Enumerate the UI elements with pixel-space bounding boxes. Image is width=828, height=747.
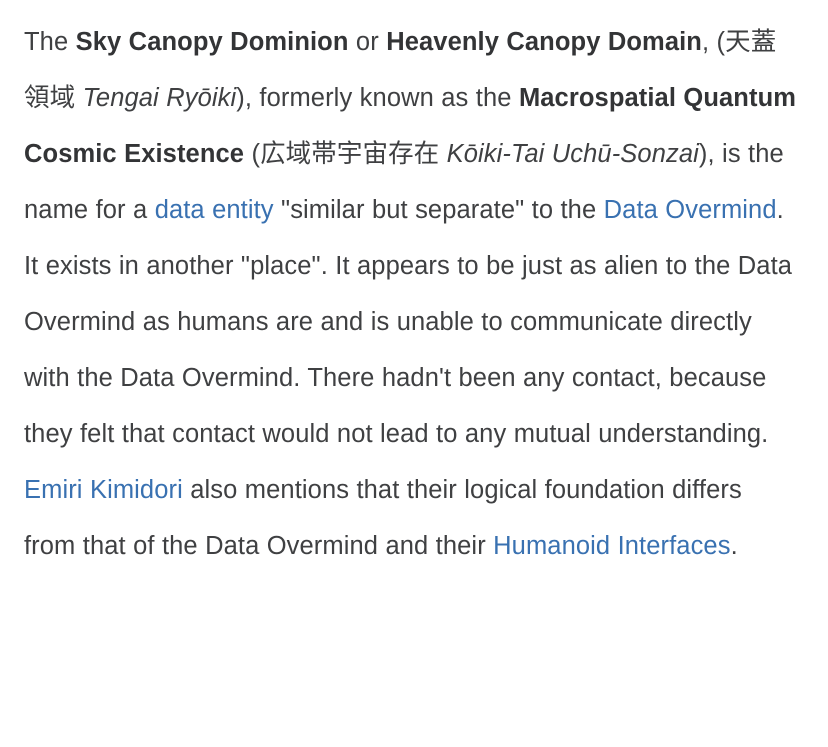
link-humanoid-interfaces[interactable]: Humanoid Interfaces (493, 532, 730, 560)
spacer-primary (75, 84, 82, 112)
article-body: The Sky Canopy Dominion or Heavenly Cano… (0, 0, 828, 747)
text-formerly-known: ), formerly known as the (236, 84, 519, 112)
link-data-entity[interactable]: data entity (155, 196, 274, 224)
text-open-paren-primary: , ( (702, 28, 725, 56)
romaji-tengai-ryoiki: Tengai Ryōiki (83, 84, 237, 112)
spacer-former (439, 140, 446, 168)
text-exists-in-another-place: . It exists in another "place". It appea… (24, 196, 792, 448)
romaji-koiki-tai-uchu-sonzai: Kōiki-Tai Uchū-Sonzai (447, 140, 699, 168)
term-heavenly-canopy-domain: Heavenly Canopy Domain (386, 28, 702, 56)
text-intro: The (24, 28, 76, 56)
link-emiri-kimidori[interactable]: Emiri Kimidori (24, 476, 183, 504)
text-or: or (349, 28, 387, 56)
link-data-overmind[interactable]: Data Overmind (604, 196, 777, 224)
text-open-paren-former: ( (244, 140, 260, 168)
japanese-koiki-tai-uchu-sonzai: 広域帯宇宙存在 (260, 139, 439, 169)
text-final-period: . (731, 532, 738, 560)
text-similar-but-separate: "similar but separate" to the (274, 196, 604, 224)
article-paragraph: The Sky Canopy Dominion or Heavenly Cano… (24, 14, 798, 574)
term-sky-canopy-dominion: Sky Canopy Dominion (76, 28, 349, 56)
